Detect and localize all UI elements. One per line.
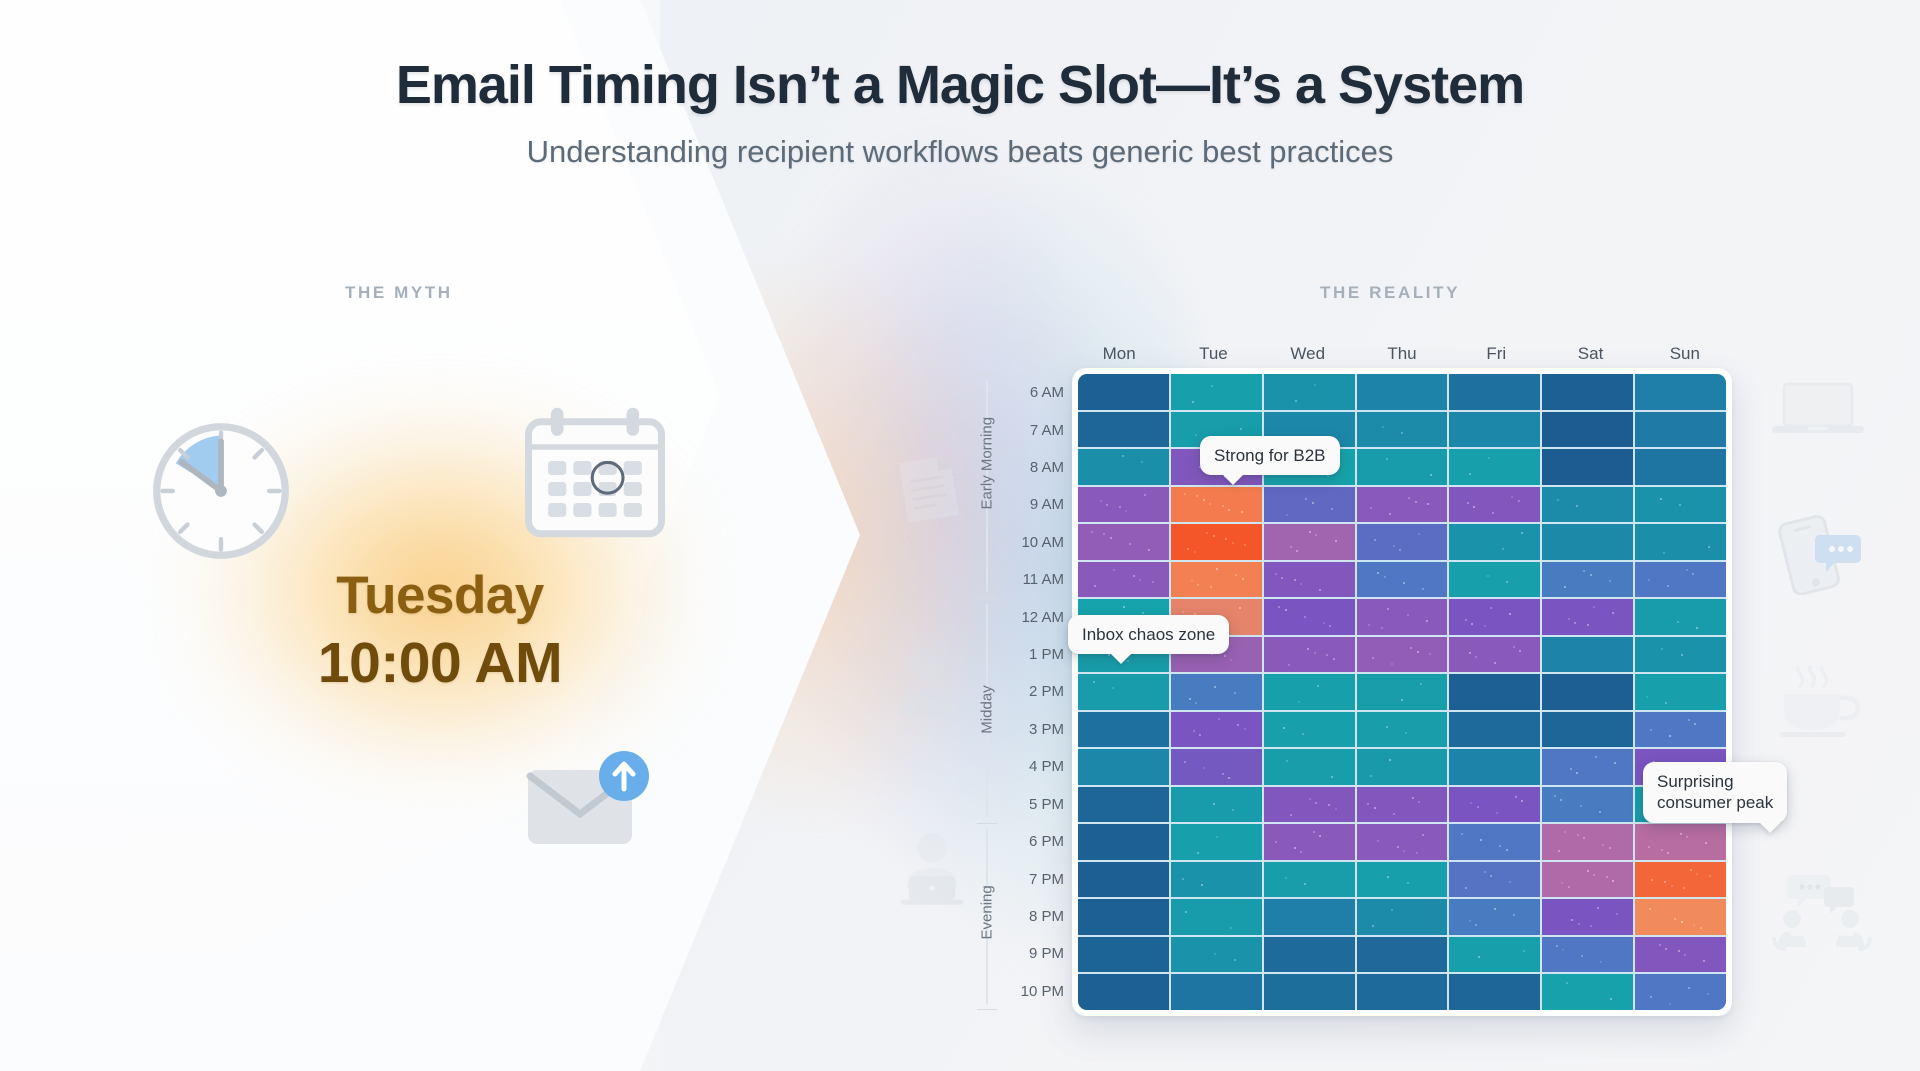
cell-speckle [1144, 494, 1146, 496]
cell-speckle [1225, 538, 1227, 540]
heatmap-cell[interactable] [1264, 599, 1355, 635]
cell-speckle [1381, 627, 1383, 629]
day-header-sun: Sun [1638, 344, 1732, 368]
hour-label: 10 PM [1000, 973, 1066, 1010]
cell-speckle [1234, 692, 1236, 694]
cell-speckle [1237, 724, 1239, 726]
cell-speckle [1557, 499, 1559, 501]
cell-speckle [1511, 496, 1513, 498]
cell-speckle [1506, 581, 1508, 583]
cell-speckle [1304, 616, 1306, 618]
cell-speckle [1275, 573, 1277, 575]
cell-speckle [1209, 503, 1211, 505]
cell-speckle [1389, 759, 1391, 761]
cell-speckle [1275, 841, 1277, 843]
cell-speckle [1329, 625, 1331, 627]
page-subtitle: Understanding recipient workflows beats … [0, 134, 1920, 170]
cell-speckle [1093, 681, 1095, 683]
cell-speckle [1309, 531, 1311, 533]
cell-speckle [1122, 455, 1124, 457]
heatmap-cell[interactable] [1635, 862, 1726, 898]
cell-speckle [1403, 582, 1405, 584]
cell-speckle [1232, 542, 1234, 544]
heatmap-cell[interactable] [1171, 937, 1262, 973]
heatmap-cell[interactable] [1542, 637, 1633, 673]
cell-speckle [1302, 733, 1304, 735]
cell-speckle [1690, 869, 1692, 871]
phone-chat-icon [1770, 513, 1900, 600]
cell-speckle [1370, 775, 1372, 777]
cell-speckle [1429, 653, 1431, 655]
cell-speckle [1574, 622, 1576, 624]
heatmap-cell[interactable] [1357, 412, 1448, 448]
hour-label: 3 PM [1000, 711, 1066, 748]
cell-speckle [1296, 550, 1298, 552]
cell-speckle [1609, 580, 1611, 582]
cell-speckle [1372, 925, 1374, 927]
cell-speckle [1665, 702, 1667, 704]
heatmap-cell[interactable] [1635, 824, 1726, 860]
cell-speckle [1648, 579, 1650, 581]
heatmap-cell[interactable] [1078, 862, 1169, 898]
heatmap-cell[interactable] [1357, 599, 1448, 635]
heatmap-cell[interactable] [1078, 824, 1169, 860]
heatmap-cell[interactable] [1449, 487, 1540, 523]
cell-speckle [1700, 927, 1702, 929]
heatmap-day-axis: MonTueWedThuFriSatSun [1072, 344, 1732, 368]
heatmap-cell[interactable] [1078, 487, 1169, 523]
cell-speckle [1315, 802, 1317, 804]
cell-speckle [1216, 836, 1218, 838]
daypart-tick [977, 1009, 997, 1010]
hour-label: 12 AM [1000, 598, 1066, 635]
hour-label: 7 PM [1000, 860, 1066, 897]
heatmap-cell[interactable] [1078, 524, 1169, 560]
heatmap-cell[interactable] [1449, 862, 1540, 898]
cell-speckle [1490, 607, 1492, 609]
cell-speckle [1333, 658, 1335, 660]
cell-speckle [1587, 870, 1589, 872]
cell-speckle [1669, 1003, 1671, 1005]
cell-speckle [1377, 572, 1379, 574]
cell-speckle [1195, 434, 1197, 436]
heatmap-cell[interactable] [1635, 637, 1726, 673]
cell-speckle [1664, 881, 1666, 883]
heatmap-cell[interactable] [1635, 599, 1726, 635]
cell-speckle [1661, 849, 1663, 851]
cell-speckle [1580, 805, 1582, 807]
cell-speckle [1465, 619, 1467, 621]
cell-speckle [1694, 723, 1696, 725]
heatmap-cell[interactable] [1542, 562, 1633, 598]
heatmap-cell[interactable] [1635, 487, 1726, 523]
cell-speckle [1386, 458, 1388, 460]
cell-speckle [1646, 696, 1648, 698]
cell-speckle [1415, 501, 1417, 503]
heatmap-cell[interactable] [1078, 562, 1169, 598]
heatmap-grid[interactable] [1078, 374, 1726, 1010]
heatmap-cell[interactable] [1449, 637, 1540, 673]
infographic-canvas: Email Timing Isn’t a Magic Slot—It’s a S… [0, 0, 1920, 1071]
cell-speckle [1213, 535, 1215, 537]
heatmap-cell[interactable] [1635, 674, 1726, 710]
cell-speckle [1309, 798, 1311, 800]
heatmap-cell[interactable] [1264, 637, 1355, 673]
cell-speckle [1521, 800, 1523, 802]
heatmap-cell[interactable] [1542, 599, 1633, 635]
cell-speckle [1106, 504, 1108, 506]
cell-speckle [1674, 918, 1676, 920]
heatmap-cell[interactable] [1449, 787, 1540, 823]
heatmap-cell[interactable] [1542, 974, 1633, 1010]
heatmap-cell[interactable] [1357, 637, 1448, 673]
heatmap-cell[interactable] [1264, 374, 1355, 410]
cell-speckle [1110, 537, 1112, 539]
cell-speckle [1300, 583, 1302, 585]
heatmap-cell[interactable] [1078, 937, 1169, 973]
cell-speckle [1314, 384, 1316, 386]
heatmap-cell[interactable] [1357, 749, 1448, 785]
cell-speckle [1422, 588, 1424, 590]
cell-speckle [1477, 806, 1479, 808]
heatmap-cell[interactable] [1264, 712, 1355, 748]
hour-label: 9 PM [1000, 935, 1066, 972]
cell-speckle [1091, 531, 1093, 533]
cell-speckle [1285, 609, 1287, 611]
heatmap-cell[interactable] [1264, 862, 1355, 898]
cell-speckle [1461, 833, 1463, 835]
heatmap-cell[interactable] [1171, 749, 1262, 785]
cell-speckle [1566, 982, 1568, 984]
cell-speckle [1688, 719, 1690, 721]
heatmap-cell[interactable] [1542, 487, 1633, 523]
heatmap-cell[interactable] [1264, 562, 1355, 598]
calendar-icon [520, 405, 670, 550]
heatmap-cell[interactable] [1171, 862, 1262, 898]
cell-speckle [1403, 850, 1405, 852]
cell-speckle [1300, 851, 1302, 853]
cell-speckle [1374, 807, 1376, 809]
heatmap-cell[interactable] [1171, 524, 1262, 560]
cell-speckle [1610, 998, 1612, 1000]
cell-speckle [1139, 579, 1141, 581]
heatmap-cell[interactable] [1357, 674, 1448, 710]
ambient-right-icons [1770, 380, 1900, 1026]
cell-speckle [1182, 878, 1184, 880]
cell-speckle [1141, 461, 1143, 463]
heatmap-cell[interactable] [1264, 899, 1355, 935]
cell-speckle [1197, 584, 1199, 586]
cell-speckle [1230, 927, 1232, 929]
cell-speckle [1327, 475, 1329, 477]
heatmap-cell[interactable] [1171, 487, 1262, 523]
heatmap-cell[interactable] [1635, 974, 1726, 1010]
hour-label: 8 AM [1000, 449, 1066, 486]
heatmap-cell[interactable] [1264, 974, 1355, 1010]
cell-speckle [1283, 727, 1285, 729]
heatmap-cell[interactable] [1078, 712, 1169, 748]
cell-speckle [1307, 648, 1309, 650]
heatmap-cell[interactable] [1449, 712, 1540, 748]
cell-speckle [1368, 624, 1370, 626]
cell-speckle [1125, 510, 1127, 512]
heatmap-cell[interactable] [1171, 562, 1262, 598]
heatmap-cell[interactable] [1635, 412, 1726, 448]
heatmap-cell[interactable] [1449, 562, 1540, 598]
heatmap-cell[interactable] [1449, 974, 1540, 1010]
heatmap-cell[interactable] [1542, 374, 1633, 410]
hour-label: 5 PM [1000, 786, 1066, 823]
cell-speckle [1418, 801, 1420, 803]
cell-speckle [1614, 762, 1616, 764]
cell-speckle [1426, 620, 1428, 622]
cell-speckle [1681, 921, 1683, 923]
cell-speckle [1660, 498, 1662, 500]
cell-speckle [1331, 508, 1333, 510]
heatmap-cell[interactable] [1449, 374, 1540, 410]
heatmap-cell[interactable] [1542, 412, 1633, 448]
heatmap-cell[interactable] [1171, 674, 1262, 710]
hour-label: 9 AM [1000, 486, 1066, 523]
cell-speckle [1129, 543, 1131, 545]
heatmap-cell[interactable] [1078, 899, 1169, 935]
cell-speckle [1502, 548, 1504, 550]
cell-speckle [1317, 685, 1319, 687]
heatmap-cell[interactable] [1542, 787, 1633, 823]
cell-speckle [1372, 657, 1374, 659]
cell-speckle [1335, 808, 1337, 810]
cell-speckle [1397, 846, 1399, 848]
heatmap-cell[interactable] [1449, 674, 1540, 710]
cell-speckle [1696, 873, 1698, 875]
cell-speckle [1602, 844, 1604, 846]
cell-speckle [1294, 579, 1296, 581]
cell-speckle [1367, 803, 1369, 805]
cell-speckle [1407, 882, 1409, 884]
heatmap-cell[interactable] [1542, 862, 1633, 898]
heatmap-cell[interactable] [1542, 937, 1633, 973]
cell-speckle [1315, 534, 1317, 536]
cell-speckle [1570, 768, 1572, 770]
heatmap-cell[interactable] [1542, 749, 1633, 785]
heatmap-cell[interactable] [1357, 487, 1448, 523]
heatmap-cell[interactable] [1171, 787, 1262, 823]
heatmap-cell[interactable] [1357, 787, 1448, 823]
cell-speckle [1568, 618, 1570, 620]
cell-speckle [1680, 833, 1682, 835]
page-title: Email Timing Isn’t a Magic Slot—It’s a S… [0, 54, 1920, 116]
heatmap-cell[interactable] [1078, 974, 1169, 1010]
cell-speckle [1650, 996, 1652, 998]
cell-speckle [1519, 650, 1521, 652]
cell-speckle [1469, 473, 1471, 475]
heatmap-cell[interactable] [1635, 937, 1726, 973]
heatmap-cell[interactable] [1078, 787, 1169, 823]
hour-label: 6 AM [1000, 374, 1066, 411]
heatmap-cell[interactable] [1078, 749, 1169, 785]
cell-speckle [1288, 664, 1290, 666]
cell-speckle [1650, 729, 1652, 731]
heatmap-cell[interactable] [1542, 449, 1633, 485]
cell-speckle [1478, 956, 1480, 958]
section-label-myth: THE MYTH [345, 283, 453, 303]
heatmap-cell[interactable] [1357, 899, 1448, 935]
heatmap-cell[interactable] [1635, 562, 1726, 598]
cell-speckle [1705, 842, 1707, 844]
heatmap-cell[interactable] [1635, 374, 1726, 410]
cell-speckle [1152, 581, 1154, 583]
cell-speckle [1665, 948, 1667, 950]
cell-speckle [1323, 622, 1325, 624]
heatmap-cell[interactable] [1357, 562, 1448, 598]
heatmap-cell[interactable] [1264, 787, 1355, 823]
cell-speckle [1469, 652, 1471, 654]
cell-speckle [1230, 659, 1232, 661]
heatmap-cell[interactable] [1542, 712, 1633, 748]
heatmap-cell[interactable] [1635, 524, 1726, 560]
cell-speckle [1648, 846, 1650, 848]
cell-speckle [1593, 606, 1595, 608]
hour-label: 4 PM [1000, 748, 1066, 785]
hour-label: 6 PM [1000, 823, 1066, 860]
heatmap-cell[interactable] [1635, 449, 1726, 485]
heatmap-cell[interactable] [1357, 712, 1448, 748]
heatmap-cell[interactable] [1357, 824, 1448, 860]
cell-speckle [1430, 474, 1432, 476]
cell-speckle [1331, 776, 1333, 778]
cell-speckle [1473, 506, 1475, 508]
heatmap-cell[interactable] [1449, 749, 1540, 785]
cell-speckle [1554, 795, 1556, 797]
cell-speckle [1475, 656, 1477, 658]
myth-day-label: Tuesday [175, 565, 705, 626]
cell-speckle [1387, 876, 1389, 878]
heatmap-cell[interactable] [1078, 412, 1169, 448]
heatmap-cell[interactable] [1449, 824, 1540, 860]
hour-label: 7 AM [1000, 411, 1066, 448]
heatmap-cell[interactable] [1357, 974, 1448, 1010]
heatmap-cell[interactable] [1449, 524, 1540, 560]
cell-speckle [1312, 502, 1314, 504]
daypart-label: Early Morning [979, 460, 996, 510]
heatmap-cell[interactable] [1449, 599, 1540, 635]
cell-speckle [1484, 625, 1486, 627]
cell-speckle [1405, 732, 1407, 734]
heatmap-cell[interactable] [1264, 524, 1355, 560]
heatmap-cell[interactable] [1357, 862, 1448, 898]
cell-speckle [1319, 835, 1321, 837]
heatmap-cell[interactable] [1264, 749, 1355, 785]
cell-speckle [1313, 831, 1315, 833]
heatmap-cell[interactable] [1635, 899, 1726, 935]
cell-speckle [1571, 919, 1573, 921]
heatmap-cell[interactable] [1264, 487, 1355, 523]
heatmap-cell[interactable] [1264, 674, 1355, 710]
cell-speckle [1197, 852, 1199, 854]
heatmap-cell[interactable] [1542, 524, 1633, 560]
heatmap-cell[interactable] [1264, 824, 1355, 860]
cell-speckle [1492, 512, 1494, 514]
cell-speckle [1708, 546, 1710, 548]
heatmap-cell[interactable] [1449, 937, 1540, 973]
cell-speckle [1562, 949, 1564, 951]
cell-speckle [1401, 432, 1403, 434]
heatmap-cell[interactable] [1171, 974, 1262, 1010]
heatmap-cell[interactable] [1357, 937, 1448, 973]
cell-speckle [1182, 611, 1184, 613]
cell-speckle [1490, 875, 1492, 877]
header: Email Timing Isn’t a Magic Slot—It’s a S… [0, 0, 1920, 170]
cell-speckle [1228, 777, 1230, 779]
heatmap-cell[interactable] [1357, 449, 1448, 485]
heatmap-cell[interactable] [1542, 899, 1633, 935]
heatmap-cell[interactable] [1078, 374, 1169, 410]
cell-speckle [1506, 849, 1508, 851]
cell-speckle [1487, 575, 1489, 577]
heatmap-cell[interactable] [1171, 824, 1262, 860]
heatmap-cell[interactable] [1635, 712, 1726, 748]
cell-speckle [1677, 621, 1679, 623]
heatmap-cell[interactable] [1078, 674, 1169, 710]
heatmap-cell[interactable] [1171, 374, 1262, 410]
cell-speckle [1326, 654, 1328, 656]
cell-speckle [1422, 834, 1424, 836]
cell-speckle [1393, 813, 1395, 815]
cell-speckle [1191, 580, 1193, 582]
heatmap-cell[interactable] [1357, 524, 1448, 560]
cell-speckle [1214, 686, 1216, 688]
daypart-label: Midday [979, 684, 996, 734]
cell-speckle [1199, 734, 1201, 736]
heatmap-cell[interactable] [1449, 412, 1540, 448]
cell-speckle [1382, 426, 1384, 428]
cell-speckle [1391, 663, 1393, 665]
cell-speckle [1285, 877, 1287, 879]
cell-speckle [1335, 540, 1337, 542]
cell-speckle [1399, 549, 1401, 551]
day-header-tue: Tue [1166, 344, 1260, 368]
hour-label: 1 PM [1000, 636, 1066, 673]
cell-speckle [1295, 400, 1297, 402]
heatmap-cell[interactable] [1542, 674, 1633, 710]
cell-speckle [1667, 852, 1669, 854]
hour-label: 10 AM [1000, 524, 1066, 561]
cell-speckle [1194, 551, 1196, 553]
heatmap-cell[interactable] [1264, 937, 1355, 973]
cell-speckle [1193, 730, 1195, 732]
cell-speckle [1206, 532, 1208, 534]
heatmap-cell[interactable] [1542, 824, 1633, 860]
heatmap-cell[interactable] [1449, 899, 1540, 935]
cell-speckle [1583, 837, 1585, 839]
cell-speckle [1509, 613, 1511, 615]
day-header-mon: Mon [1072, 344, 1166, 368]
daypart-tick [977, 598, 997, 599]
cell-speckle [1112, 687, 1114, 689]
heatmap-cell[interactable] [1449, 449, 1540, 485]
heatmap-cell[interactable] [1078, 449, 1169, 485]
cell-speckle [1384, 576, 1386, 578]
cell-speckle [1649, 908, 1651, 910]
cell-speckle [1216, 568, 1218, 570]
heatmap-cell[interactable] [1171, 712, 1262, 748]
section-label-reality: THE REALITY [1320, 283, 1460, 303]
cell-speckle [1484, 871, 1486, 873]
cell-speckle [1523, 950, 1525, 952]
cell-speckle [1286, 760, 1288, 762]
heatmap-cell[interactable] [1357, 374, 1448, 410]
heatmap-cell[interactable] [1171, 899, 1262, 935]
